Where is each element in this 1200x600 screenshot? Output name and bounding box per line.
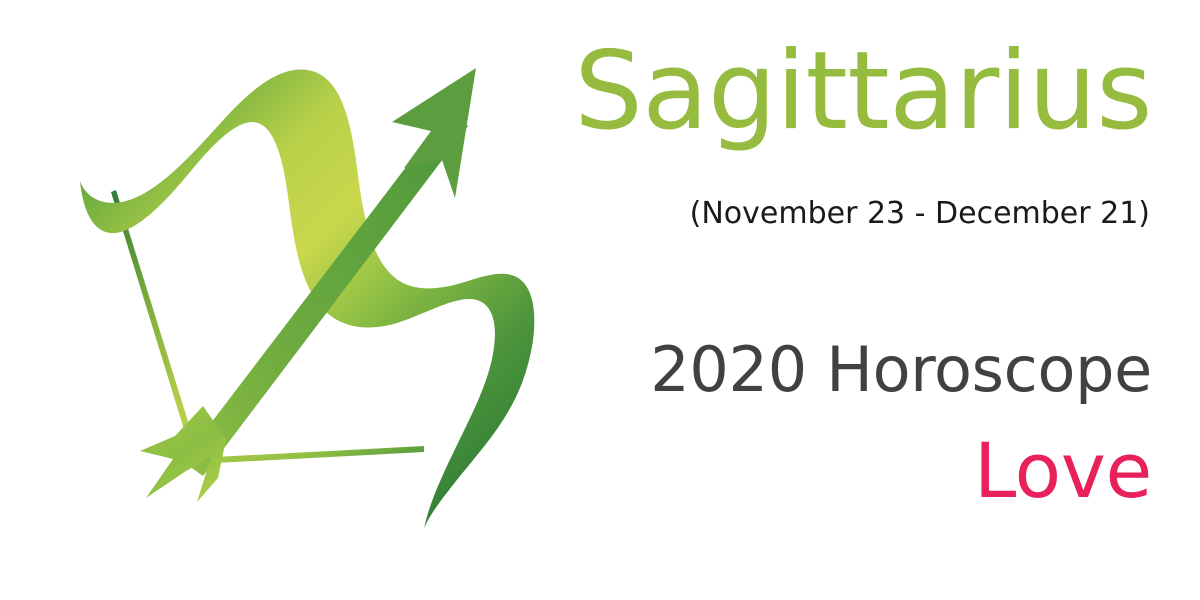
horoscope-banner: Sagittarius (November 23 - December 21) … xyxy=(0,0,1200,600)
horoscope-year-heading: 2020 Horoscope xyxy=(520,335,1152,404)
horoscope-topic-heading: Love xyxy=(520,428,1152,513)
sagittarius-symbol-icon xyxy=(0,0,560,600)
bowstring-lower-icon xyxy=(196,446,424,464)
page-title: Sagittarius xyxy=(520,34,1152,151)
sign-date-range: (November 23 - December 21) xyxy=(518,196,1150,232)
horoscope-text-block: Sagittarius (November 23 - December 21) … xyxy=(520,0,1152,600)
